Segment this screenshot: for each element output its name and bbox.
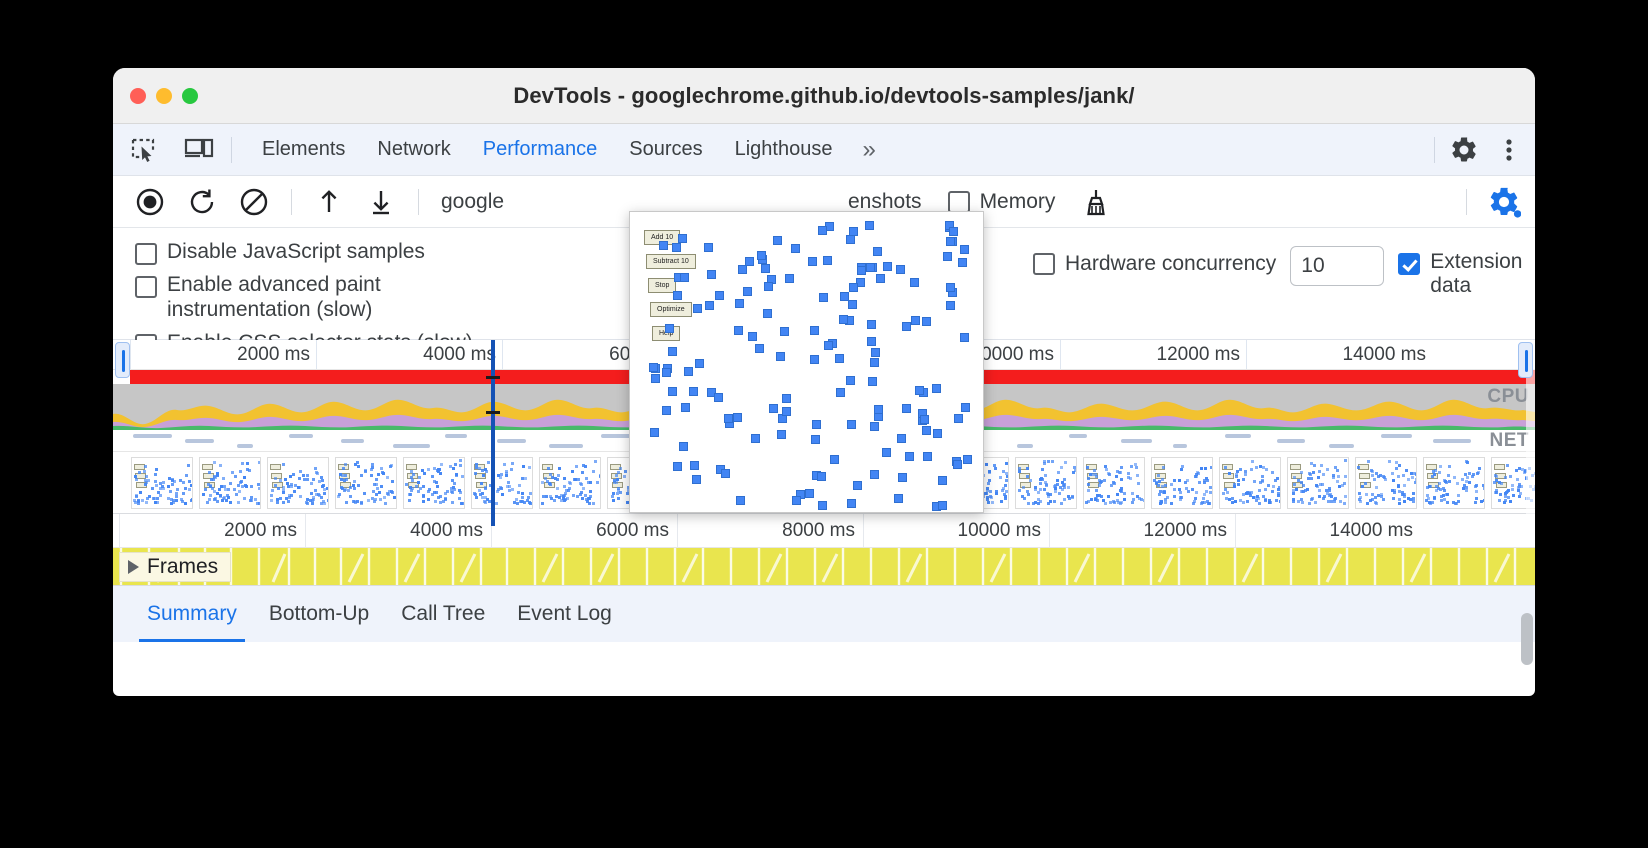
thumb-square (1341, 484, 1344, 487)
jank-square (769, 404, 778, 413)
thumb-square (1200, 502, 1203, 505)
thumb-square (615, 474, 618, 477)
thumb-square (245, 485, 248, 488)
thumb-square (389, 465, 392, 468)
thumb-square (1509, 475, 1512, 478)
filmstrip-frame[interactable] (539, 457, 601, 509)
thumb-square (989, 490, 992, 493)
filmstrip-frame[interactable] (403, 457, 465, 509)
collect-garbage-broom-icon[interactable] (1081, 187, 1111, 217)
thumb-square (1319, 483, 1322, 486)
thumb-button (1290, 464, 1301, 470)
thumb-square (1063, 498, 1066, 501)
thumb-square (154, 473, 157, 476)
thumb-square (560, 499, 563, 502)
flamechart-ruler[interactable]: 2000 ms 4000 ms 6000 ms 8000 ms 10000 ms… (113, 514, 1535, 548)
thumb-square (612, 499, 615, 502)
capture-settings-right: Hardware concurrency Extension data (1033, 246, 1535, 298)
reload-record-icon[interactable] (187, 187, 217, 217)
filmstrip-frame[interactable] (199, 457, 261, 509)
jank-square (883, 262, 892, 271)
thumb-square (439, 472, 442, 475)
thumb-square (564, 492, 567, 495)
clear-prohibited-icon[interactable] (239, 187, 269, 217)
thumb-square (1398, 498, 1401, 501)
thumb-square (524, 477, 527, 480)
thumb-square (1297, 479, 1300, 482)
jank-square (840, 292, 849, 301)
thumb-square (528, 466, 531, 469)
filmstrip-frame[interactable] (335, 457, 397, 509)
thumb-square (1310, 477, 1313, 480)
thumb-square (541, 502, 544, 505)
thumb-square (276, 498, 279, 501)
thumb-square (431, 493, 434, 496)
thumb-square (1398, 464, 1401, 467)
thumb-square (1087, 500, 1090, 503)
thumb-square (345, 501, 348, 504)
thumb-square (522, 465, 525, 468)
thumb-square (1498, 499, 1501, 502)
thumb-square (1209, 491, 1212, 494)
thumb-square (311, 499, 314, 502)
thumb-square (341, 474, 344, 477)
thumb-square (1119, 471, 1122, 474)
thumb-square (1388, 460, 1391, 463)
frames-label: Frames (147, 555, 218, 579)
thumb-square (225, 499, 228, 502)
three-dot-menu-icon[interactable] (1497, 135, 1521, 165)
jank-square (782, 394, 791, 403)
thumb-square (1448, 480, 1451, 483)
thumb-square (452, 467, 455, 470)
thumb-square (226, 494, 229, 497)
thumb-square (306, 474, 309, 477)
thumb-square (1225, 497, 1228, 500)
thumb-square (276, 501, 279, 504)
thumb-square (1391, 472, 1394, 475)
thumb-square (988, 479, 991, 482)
jank-square (896, 265, 905, 274)
thumb-square (423, 472, 426, 475)
thumb-square (1468, 481, 1471, 484)
thumb-square (619, 491, 622, 494)
thumb-square (410, 470, 413, 473)
thumb-square (240, 480, 243, 483)
jank-square (707, 270, 716, 279)
thumb-square (411, 479, 414, 482)
thumb-square (1044, 474, 1047, 477)
thumb-square (995, 490, 998, 493)
thumb-square (1143, 499, 1145, 502)
thumb-square (1022, 486, 1025, 489)
thumb-square (563, 477, 566, 480)
thumb-square (1326, 468, 1329, 471)
thumb-square (1256, 495, 1259, 498)
jank-square (810, 355, 819, 364)
thumb-square (1251, 460, 1254, 463)
thumb-square (495, 502, 498, 505)
playhead-drag-grip[interactable] (486, 376, 500, 414)
vertical-scrollbar-thumb[interactable] (1521, 613, 1533, 665)
thumb-square (1224, 488, 1227, 491)
flamechart-tick: 12000 ms (1049, 514, 1235, 548)
thumb-square (353, 480, 356, 483)
tab-elements[interactable]: Elements (246, 124, 361, 176)
memory-checkbox-row[interactable]: Memory (948, 190, 1056, 214)
thumb-square (1026, 475, 1029, 478)
thumb-square (501, 493, 504, 496)
thumb-square (185, 474, 188, 477)
thumb-square (549, 473, 552, 476)
thumb-square (159, 494, 162, 497)
thumb-square (1047, 460, 1050, 463)
toolbar-divider-3 (1466, 189, 1467, 215)
thumb-square (1005, 479, 1008, 482)
thumb-square (258, 461, 261, 464)
thumb-square (455, 473, 458, 476)
thumb-square (134, 501, 137, 504)
thumb-square (162, 481, 165, 484)
thumb-square (1495, 479, 1498, 482)
device-toolbar-icon[interactable] (183, 135, 217, 165)
thumb-square (1366, 502, 1369, 505)
timeline-playhead[interactable] (491, 340, 495, 526)
thumb-square (222, 477, 225, 480)
filmstrip-frame[interactable] (1287, 457, 1349, 509)
tab-summary[interactable]: Summary (131, 586, 253, 642)
extension-data-checkbox[interactable] (1398, 253, 1420, 275)
frames-expand-row[interactable]: Frames (119, 552, 231, 582)
thumb-square (279, 479, 282, 482)
thumb-square (461, 475, 464, 478)
thumb-square (1295, 488, 1298, 491)
thumb-square (1367, 460, 1370, 463)
thumb-square (1203, 479, 1206, 482)
thumb-square (1250, 468, 1253, 471)
thumb-square (1332, 476, 1335, 479)
thumb-square (1442, 487, 1445, 490)
memory-label: Memory (980, 190, 1056, 214)
thumb-square (223, 485, 226, 488)
thumb-square (1379, 474, 1382, 477)
jank-square (678, 234, 687, 243)
tab-call-tree[interactable]: Call Tree (385, 586, 501, 642)
thumb-square (1308, 502, 1311, 505)
jank-square (780, 327, 789, 336)
thumb-square (1186, 479, 1189, 482)
thumb-square (371, 463, 374, 466)
thumb-square (1371, 493, 1374, 496)
thumb-square (310, 482, 313, 485)
thumb-square (1120, 501, 1123, 504)
jank-square (946, 237, 955, 246)
thumb-square (1140, 498, 1143, 501)
overview-tick: 2000 ms (130, 340, 316, 370)
thumb-square (227, 488, 230, 491)
thumb-square (1203, 501, 1206, 504)
thumb-square (587, 481, 590, 484)
disable-js-samples-row[interactable]: Disable JavaScript samples (135, 240, 527, 265)
thumb-square (1308, 472, 1311, 475)
capture-settings-gear-icon[interactable] (1487, 185, 1521, 219)
jank-square (817, 472, 826, 481)
thumb-square (1462, 487, 1465, 490)
jank-square (679, 442, 688, 451)
thumb-square (1374, 501, 1377, 504)
thumb-square (1242, 501, 1245, 504)
thumb-square (521, 496, 524, 499)
network-request-bar (1277, 439, 1305, 443)
disable-js-samples-checkbox[interactable] (135, 243, 157, 265)
thumb-square (1318, 495, 1321, 498)
thumb-square (1271, 471, 1274, 474)
thumb-square (1049, 500, 1052, 503)
thumb-square (487, 461, 490, 464)
jank-square (876, 274, 885, 283)
thumb-square (551, 476, 554, 479)
thumb-square (1466, 461, 1469, 464)
thumb-square (1262, 495, 1265, 498)
filmstrip-frame[interactable] (131, 457, 193, 509)
jank-square (791, 244, 800, 253)
thumb-square (1244, 473, 1247, 476)
filmstrip-frame[interactable] (1355, 457, 1417, 509)
jank-square (681, 403, 690, 412)
advanced-paint-checkbox[interactable] (135, 276, 157, 298)
memory-checkbox[interactable] (948, 191, 970, 213)
thumb-square (506, 485, 509, 488)
filmstrip-frame[interactable] (1151, 457, 1213, 509)
extension-data-row[interactable]: Extension data (1398, 250, 1535, 298)
thumb-square (1483, 487, 1485, 490)
frames-track[interactable]: Frames (113, 548, 1535, 586)
thumb-square (547, 467, 550, 470)
thumb-square (408, 493, 411, 496)
thumb-square (1313, 464, 1316, 467)
hardware-concurrency-row[interactable]: Hardware concurrency (1033, 252, 1276, 276)
thumb-square (1131, 492, 1134, 495)
jank-square (867, 320, 876, 329)
jank-square (830, 455, 839, 464)
thumb-square (507, 481, 510, 484)
thumb-square (553, 499, 556, 502)
thumb-square (274, 484, 277, 487)
network-request-bar (289, 434, 313, 438)
thumb-square (1161, 478, 1164, 481)
thumb-square (1178, 479, 1181, 482)
tab-network[interactable]: Network (361, 124, 466, 176)
thumb-square (549, 495, 552, 498)
gear-icon[interactable] (1449, 135, 1483, 165)
flamechart-tick: 4000 ms (305, 514, 491, 548)
thumb-square (999, 476, 1002, 479)
jank-square (690, 461, 699, 470)
network-request-bar (341, 439, 364, 443)
devtools-tabstrip: Elements Network Performance Sources Lig… (113, 124, 1535, 176)
thumb-square (1246, 500, 1249, 503)
jank-square (792, 496, 801, 505)
thumb-square (139, 491, 142, 494)
jank-square (846, 235, 855, 244)
thumb-square (453, 488, 456, 491)
thumb-square (1272, 485, 1275, 488)
thumb-square (1170, 483, 1173, 486)
thumb-square (1053, 500, 1056, 503)
thumb-square (1253, 480, 1256, 483)
thumb-square (479, 493, 482, 496)
tab-sources[interactable]: Sources (613, 124, 718, 176)
inspect-cursor-icon[interactable] (129, 135, 163, 165)
thumb-square (995, 492, 998, 495)
thumb-square (1453, 476, 1456, 479)
jank-square (695, 359, 704, 368)
record-circle-icon[interactable] (135, 187, 165, 217)
filmstrip-frame[interactable] (1015, 457, 1077, 509)
thumb-square (558, 467, 561, 470)
thumb-square (405, 483, 408, 486)
network-request-bar (133, 434, 172, 438)
thumb-square (529, 502, 532, 505)
thumb-square (1455, 502, 1458, 505)
thumb-square (213, 461, 216, 464)
thumb-square (1322, 497, 1325, 500)
filmstrip-frame[interactable] (267, 457, 329, 509)
jank-square (910, 278, 919, 287)
thumb-square (1474, 501, 1477, 504)
thumb-square (277, 487, 280, 490)
thumb-square (1127, 472, 1130, 475)
overview-selection-handle-left[interactable] (115, 342, 130, 378)
thumb-square (1103, 479, 1106, 482)
thumb-square (1300, 481, 1303, 484)
jank-square (755, 344, 764, 353)
more-tabs-chevron-icon[interactable]: » (848, 124, 889, 176)
jank-square (911, 316, 920, 325)
jank-square (870, 422, 879, 431)
thumb-square (1061, 481, 1064, 484)
screenshot-preview-popup: Add 10 Subtract 10 Stop Optimize Help (629, 211, 984, 513)
thumb-square (1157, 484, 1160, 487)
thumb-square (1292, 492, 1295, 495)
thumb-square (1439, 465, 1442, 468)
download-profile-icon[interactable] (366, 187, 396, 217)
hardware-concurrency-input[interactable] (1290, 246, 1384, 286)
thumb-square (485, 470, 488, 473)
thumb-square (204, 488, 207, 491)
thumb-square (184, 502, 187, 505)
thumb-square (1004, 484, 1007, 487)
thumb-square (481, 496, 484, 499)
thumb-square (145, 501, 148, 504)
thumb-square (1027, 493, 1030, 496)
thumb-square (1158, 493, 1161, 496)
thumb-square (572, 494, 575, 497)
thumb-square (373, 500, 376, 503)
thumb-square (484, 487, 487, 490)
thumb-square (435, 491, 438, 494)
thumb-square (1461, 478, 1464, 481)
thumb-square (241, 462, 244, 465)
thumb-square (143, 470, 146, 473)
thumb-square (1375, 472, 1378, 475)
thumb-square (440, 463, 443, 466)
filmstrip-frame[interactable] (1083, 457, 1145, 509)
thumb-square (589, 490, 592, 493)
tabstrip-right-actions (1420, 124, 1535, 176)
thumb-square (1192, 502, 1195, 505)
thumb-square (306, 478, 309, 481)
jank-square (873, 247, 882, 256)
thumb-square (475, 466, 478, 469)
thumb-square (418, 476, 421, 479)
jank-square (810, 326, 819, 335)
thumb-square (1200, 467, 1203, 470)
jank-square (773, 236, 782, 245)
thumb-square (1104, 502, 1107, 505)
thumb-square (1258, 502, 1261, 505)
toolbar-divider-1 (291, 189, 292, 215)
thumb-square (1375, 486, 1378, 489)
thumb-square (1127, 476, 1130, 479)
jank-square (684, 367, 693, 376)
thumb-square (144, 465, 147, 468)
thumb-square (1196, 471, 1199, 474)
upload-profile-icon[interactable] (314, 187, 344, 217)
overview-selection-handle-right[interactable] (1518, 342, 1533, 378)
detail-view-tabs: Summary Bottom-Up Call Tree Event Log (113, 586, 1535, 642)
thumb-square (344, 463, 347, 466)
thumb-square (1310, 462, 1313, 465)
thumb-square (1265, 468, 1268, 471)
tab-event-log[interactable]: Event Log (501, 586, 628, 642)
thumb-square (314, 489, 317, 492)
thumb-square (147, 479, 150, 482)
jank-square (963, 455, 972, 464)
jank-subtract-button: Subtract 10 (646, 254, 696, 269)
filmstrip-frame[interactable] (1423, 457, 1485, 509)
tab-performance[interactable]: Performance (467, 124, 614, 176)
thumb-square (302, 474, 305, 477)
filmstrip-frame[interactable] (471, 457, 533, 509)
thumb-square (1159, 502, 1162, 505)
expand-triangle-icon[interactable] (128, 560, 139, 574)
network-request-bar (237, 444, 253, 448)
thumb-square (1095, 475, 1098, 478)
thumb-square (541, 481, 544, 484)
jank-square (649, 363, 658, 372)
thumb-square (370, 468, 373, 471)
filmstrip-frame[interactable] (1219, 457, 1281, 509)
thumb-square (393, 496, 396, 499)
thumb-square (1402, 474, 1405, 477)
jank-square (902, 404, 911, 413)
thumb-square (1395, 467, 1398, 470)
thumb-square (1322, 473, 1325, 476)
advanced-paint-row[interactable]: Enable advanced paint instrumentation (s… (135, 273, 527, 323)
thumb-square (1095, 489, 1098, 492)
disable-js-samples-label: Disable JavaScript samples (167, 240, 425, 265)
thumb-square (299, 470, 302, 473)
thumb-square (320, 476, 323, 479)
thumb-square (427, 468, 430, 471)
tab-lighthouse[interactable]: Lighthouse (719, 124, 849, 176)
hardware-concurrency-checkbox[interactable] (1033, 253, 1055, 275)
thumb-square (1056, 483, 1059, 486)
thumb-square (322, 484, 325, 487)
thumb-square (1120, 478, 1123, 481)
tab-bottom-up[interactable]: Bottom-Up (253, 586, 385, 642)
